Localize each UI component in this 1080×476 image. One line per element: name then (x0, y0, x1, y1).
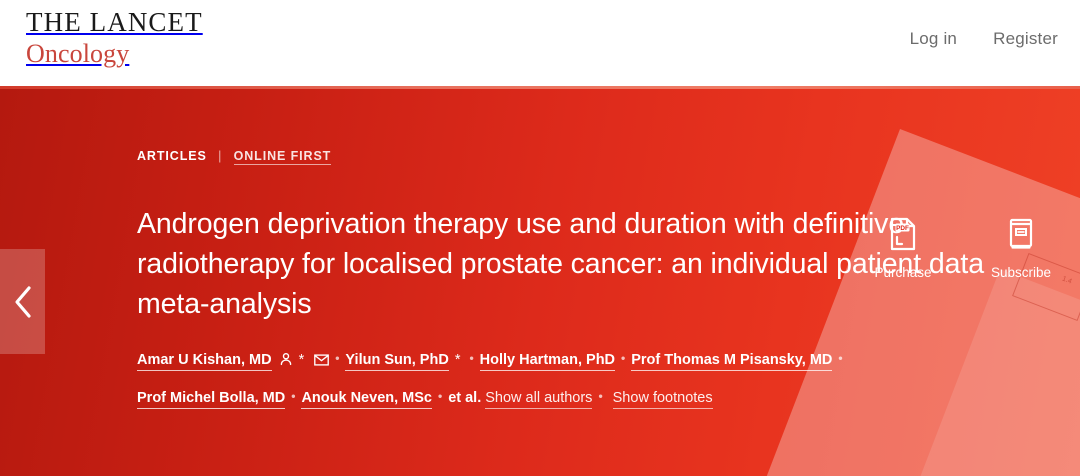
author-email-icon[interactable] (314, 345, 329, 379)
article-hero-banner: 1.4 PDF Pu (0, 89, 1080, 476)
chevron-left-icon (13, 285, 33, 319)
author-link-4[interactable]: Prof Michel Bolla, MD (137, 390, 285, 409)
author-footnote-marker-1[interactable]: * (455, 352, 461, 368)
subscribe-button[interactable]: Subscribe (980, 217, 1062, 280)
author-link-5[interactable]: Anouk Neven, MSc (301, 390, 432, 409)
logo-secondary-text: Oncology (26, 41, 203, 67)
show-all-authors-link[interactable]: Show all authors (485, 390, 592, 409)
author-footnote-marker-0[interactable]: * (299, 352, 305, 368)
login-link[interactable]: Log in (910, 29, 958, 49)
masthead-divider (0, 86, 1080, 89)
pdf-document-icon: PDF (888, 217, 918, 256)
author-link-3[interactable]: Prof Thomas M Pisansky, MD (631, 352, 832, 371)
breadcrumb-separator: | (218, 149, 222, 163)
register-link[interactable]: Register (993, 29, 1058, 49)
decorative-tick-label: 1.4 (1061, 275, 1073, 285)
article-page: THE LANCET Oncology Log in Register 1.4 (0, 0, 1080, 476)
author-separator: • (598, 379, 602, 413)
author-separator: • (621, 341, 625, 375)
hero-action-bar: PDF Purchase Subscribe (862, 217, 1062, 280)
online-first-link[interactable]: ONLINE FIRST (234, 149, 332, 165)
subscribe-label: Subscribe (991, 265, 1051, 280)
svg-text:PDF: PDF (896, 225, 909, 232)
journal-icon (1006, 217, 1036, 256)
site-masthead: THE LANCET Oncology Log in Register (0, 0, 1080, 86)
author-separator: • (438, 379, 442, 413)
breadcrumb: ARTICLES | ONLINE FIRST (137, 149, 331, 163)
site-logo[interactable]: THE LANCET Oncology (26, 9, 203, 67)
logo-primary-text: THE LANCET (26, 9, 203, 36)
author-link-2[interactable]: Holly Hartman, PhD (480, 352, 615, 371)
show-footnotes-link[interactable]: Show footnotes (613, 390, 713, 409)
author-separator: • (838, 341, 842, 375)
author-separator: • (469, 341, 473, 375)
author-link-1[interactable]: Yilun Sun, PhD (345, 352, 448, 371)
author-separator: • (335, 341, 339, 375)
author-link-0[interactable]: Amar U Kishan, MD (137, 352, 272, 371)
et-al-label: et al. (448, 390, 481, 406)
previous-article-button[interactable] (0, 249, 45, 354)
masthead-nav: Log in Register (910, 29, 1058, 49)
purchase-button[interactable]: PDF Purchase (862, 217, 944, 280)
purchase-label: Purchase (874, 265, 931, 280)
author-profile-icon[interactable] (279, 345, 293, 379)
hero-content: ARTICLES | ONLINE FIRST Androgen depriva… (137, 89, 1017, 476)
author-list: Amar U Kishan, MD*•Yilun Sun, PhD*•Holly… (137, 341, 937, 415)
section-label: ARTICLES (137, 149, 207, 163)
author-separator: • (291, 379, 295, 413)
